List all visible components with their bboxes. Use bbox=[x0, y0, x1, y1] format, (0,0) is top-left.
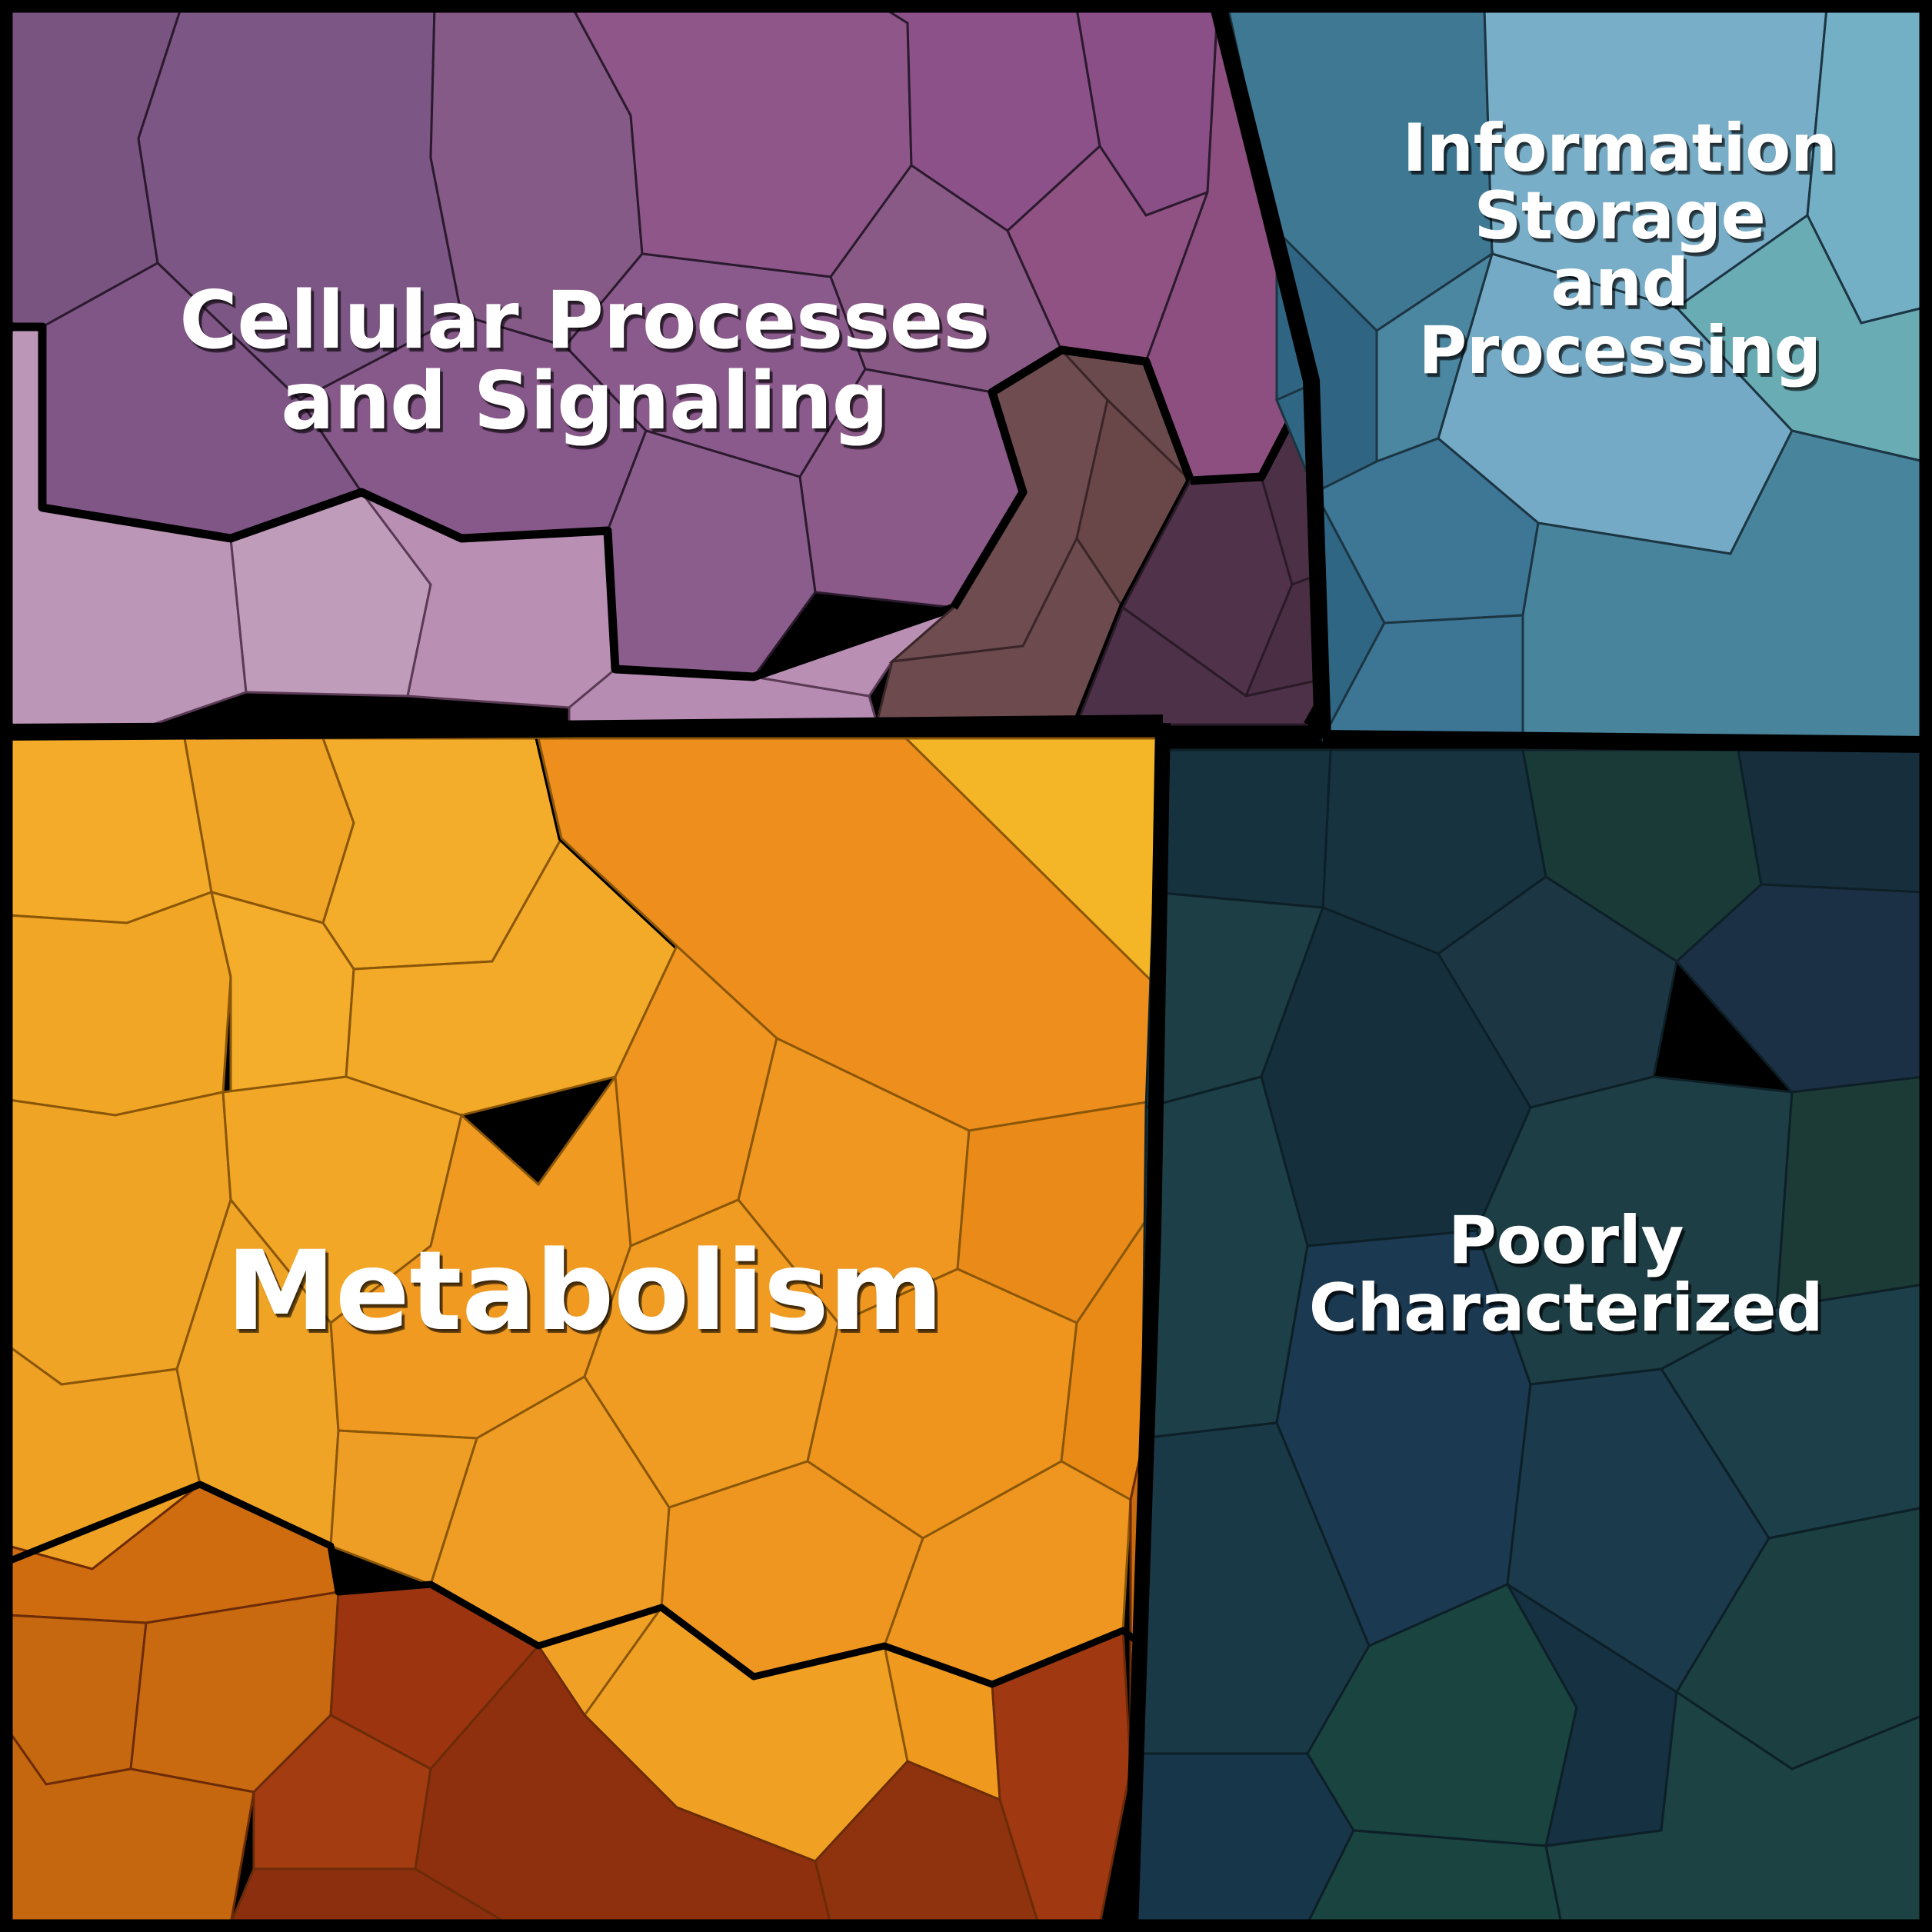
group-poorly-characterized[interactable] bbox=[1131, 750, 1924, 1924]
voronoi-cell[interactable] bbox=[1307, 1830, 1561, 1924]
voronoi-cell[interactable] bbox=[8, 892, 231, 1115]
boundary-cps-met bbox=[4, 723, 1163, 732]
voronoi-treemap-figure: Cellular Processes and Signaling Informa… bbox=[0, 0, 1932, 1932]
group-cellular-processes-and-signaling[interactable] bbox=[8, 8, 1354, 729]
voronoi-cell[interactable] bbox=[1777, 1077, 1924, 1307]
voronoi-cell[interactable] bbox=[1738, 750, 1924, 892]
voronoi-cell[interactable] bbox=[8, 738, 212, 923]
group-information-storage-and-processing[interactable] bbox=[1228, 8, 1924, 738]
group-metabolism[interactable] bbox=[8, 738, 1163, 1924]
voronoi-cell[interactable] bbox=[1154, 750, 1331, 908]
voronoi-cells-canvas bbox=[0, 0, 1932, 1932]
boundary-isp-pc bbox=[1323, 738, 1928, 744]
